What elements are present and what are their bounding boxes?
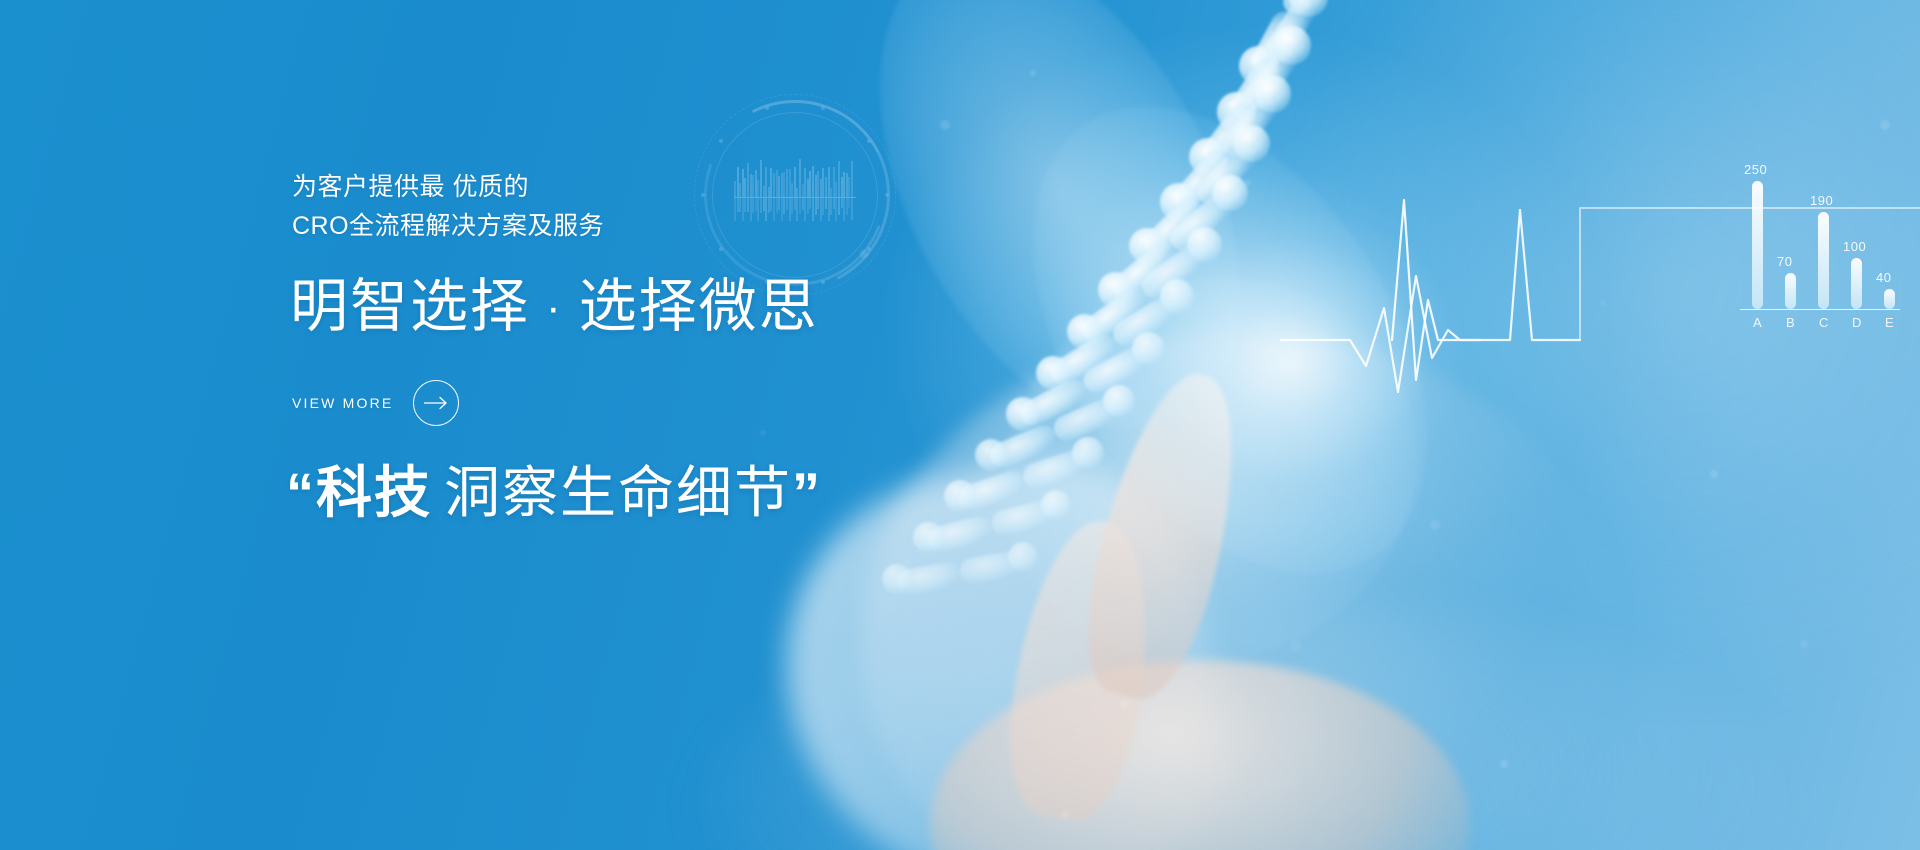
dna-nucleotide-knob xyxy=(1187,227,1222,262)
chart-category-label: E xyxy=(1885,315,1895,330)
headline-separator: · xyxy=(530,283,579,332)
view-more-button[interactable]: VIEW MORE xyxy=(292,380,459,426)
bokeh-dot xyxy=(1710,470,1718,478)
dna-nucleotide-knob xyxy=(1233,125,1270,162)
bokeh-dot xyxy=(1245,180,1251,186)
dna-nucleotide-knob xyxy=(1103,385,1136,418)
chart-bar xyxy=(1851,258,1862,309)
arrow-right-icon[interactable] xyxy=(413,380,459,426)
bokeh-dot xyxy=(1880,120,1890,130)
quote-open-mark: “ xyxy=(286,461,316,524)
quote-close-mark: ” xyxy=(792,461,822,524)
bokeh-dot xyxy=(1500,760,1508,768)
bokeh-dot xyxy=(1430,520,1440,530)
bokeh-dot xyxy=(1290,640,1302,652)
chart-category-label: C xyxy=(1819,315,1829,330)
chart-bar xyxy=(1818,212,1829,309)
chart-category-label: A xyxy=(1753,315,1763,330)
chart-value-label: 250 xyxy=(1744,162,1767,177)
dna-nucleotide-knob xyxy=(1160,279,1194,313)
bokeh-dot xyxy=(1120,700,1128,708)
arrow-right-glyph xyxy=(423,396,449,410)
headline-left: 明智选择 xyxy=(290,274,530,339)
chart-axis-line xyxy=(1740,309,1900,310)
hero-banner: 250A70B190C100D40E 为客户提供最 优质的 CRO全流程解决方案… xyxy=(0,0,1920,850)
chart-bar xyxy=(1752,181,1763,309)
chart-bar xyxy=(1785,273,1796,309)
dna-nucleotide-knob xyxy=(1273,26,1311,64)
chart-value-label: 70 xyxy=(1777,254,1792,269)
chart-bar xyxy=(1884,289,1895,309)
quote-strong-text: 科技 xyxy=(316,461,432,524)
chart-category-label: D xyxy=(1852,315,1862,330)
bokeh-dot xyxy=(1800,640,1808,648)
dna-nucleotide-knob xyxy=(1254,75,1292,113)
subheadline-line-2: CRO全流程解决方案及服务 xyxy=(292,207,604,246)
hero-copy: 为客户提供最 优质的 CRO全流程解决方案及服务 明智选择·选择微思 VIEW … xyxy=(292,0,1092,850)
quote-light-text: 洞察生命细节 xyxy=(432,461,792,524)
bokeh-dot xyxy=(1600,300,1606,306)
chart-value-label: 190 xyxy=(1810,193,1833,208)
chart-value-label: 100 xyxy=(1843,239,1866,254)
tagline-quote: “科技洞察生命细节” xyxy=(286,457,822,529)
mini-bar-chart: 250A70B190C100D40E xyxy=(1726,152,1912,332)
dna-nucleotide-knob xyxy=(1212,175,1248,211)
view-more-label: VIEW MORE xyxy=(292,395,393,411)
subheadline: 为客户提供最 优质的 CRO全流程解决方案及服务 xyxy=(292,168,604,246)
page-title: 明智选择·选择微思 xyxy=(290,272,819,343)
headline-right: 选择微思 xyxy=(579,274,819,339)
chart-category-label: B xyxy=(1786,315,1796,330)
subheadline-line-1: 为客户提供最 优质的 xyxy=(292,168,604,207)
chart-value-label: 40 xyxy=(1876,270,1891,285)
